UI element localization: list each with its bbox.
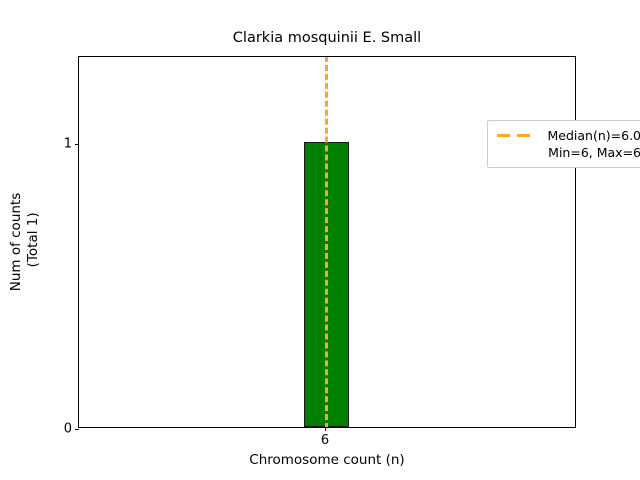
y-axis-label-container: Num of counts (Total 1) xyxy=(0,56,50,428)
legend: Median(n)=6.0 Min=6, Max=6 xyxy=(487,120,640,168)
legend-item-median: Median(n)=6.0 xyxy=(495,127,640,144)
y-tick-label-0: 0 xyxy=(64,423,72,436)
y-tick-mark-0 xyxy=(75,429,79,430)
legend-item-minmax: Min=6, Max=6 xyxy=(495,144,640,161)
dashed-line-icon xyxy=(495,130,535,142)
legend-sample-empty xyxy=(495,147,535,159)
x-axis-label: Chromosome count (n) xyxy=(78,452,576,468)
plot-area xyxy=(79,57,575,427)
page-title: Clarkia mosquinii E. Small xyxy=(78,30,576,47)
y-axis-label: Num of counts (Total 1) xyxy=(8,193,42,292)
y-tick-label-1: 1 xyxy=(64,138,72,151)
median-line xyxy=(325,57,328,427)
x-tick-mark-6 xyxy=(325,427,326,431)
legend-label-minmax: Min=6, Max=6 xyxy=(543,145,640,160)
axes-frame: 0 1 6 Median(n)=6.0 xyxy=(78,56,576,428)
legend-label-median: Median(n)=6.0 xyxy=(543,128,640,143)
x-tick-label-6: 6 xyxy=(321,434,329,448)
chart-figure: Clarkia mosquinii E. Small Num of counts… xyxy=(0,0,640,480)
